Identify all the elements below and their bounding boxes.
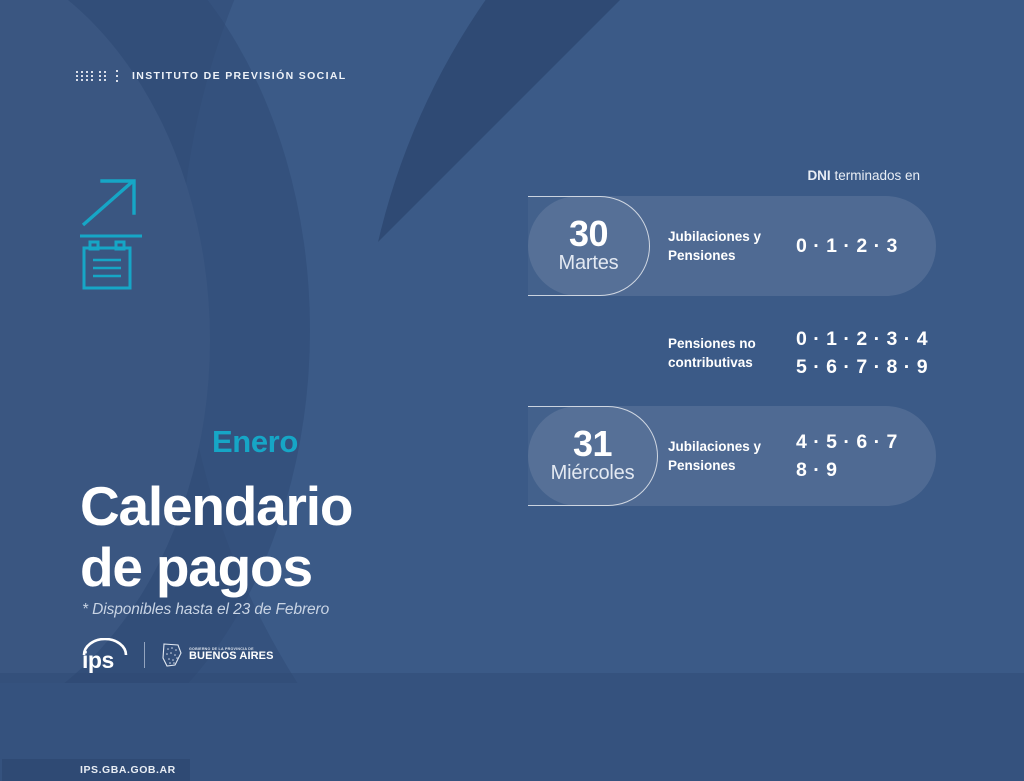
page-subtitle: * Disponibles hasta el 23 de Febrero [82,601,329,619]
topbar-title: INSTITUTO DE PREVISIÓN SOCIAL [132,70,347,82]
dni-header: DNI terminados en [807,168,920,183]
month-label: Enero [212,424,298,460]
dni-header-bold: DNI [807,168,830,183]
benefit-label: Jubilaciones y Pensiones [668,437,798,475]
dot-grid-icon [76,70,122,82]
page-title: Calendario de pagos [80,476,352,598]
benefit-label: Pensiones no contributivas [668,334,798,372]
page-title-line2: de pagos [80,537,352,598]
day-number: 30 [569,217,608,251]
dni-digits: 0 · 1 · 2 · 3 · 4 5 · 6 · 7 · 8 · 9 [796,325,928,381]
payment-row[interactable]: 30 Martes Jubilaciones y Pensiones 0 · 1… [528,196,938,296]
background-bottom-band [0,673,1024,683]
province-map-icon [161,642,183,668]
ips-logo-text: ips [82,647,114,674]
dni-digits: 0 · 1 · 2 · 3 [796,232,898,260]
page-title-line1: Calendario [80,476,352,537]
day-name: Martes [559,251,619,275]
dni-digits: 4 · 5 · 6 · 7 8 · 9 [796,428,898,484]
day-capsule: 30 Martes [528,196,650,296]
left-panel: Enero Calendario de pagos * Disponibles … [80,176,480,286]
day-capsule: 31 Miércoles [528,406,658,506]
payment-row[interactable]: Pensiones no contributivas 0 · 1 · 2 · 3… [528,318,938,388]
calendar-icon [80,233,142,291]
url-badge[interactable]: IPS.GBA.GOB.AR [2,759,190,781]
month-icon-stack [80,176,200,286]
payment-row[interactable]: 31 Miércoles Jubilaciones y Pensiones 4 … [528,406,938,506]
day-number: 31 [573,427,612,461]
dni-header-rest: terminados en [831,168,920,183]
arrow-up-right-icon [80,176,142,228]
benefit-label: Jubilaciones y Pensiones [668,227,798,265]
gov-logo-big-text: BUENOS AIRES [189,651,274,662]
logo-divider [144,642,145,668]
topbar: INSTITUTO DE PREVISIÓN SOCIAL [76,70,347,82]
day-name: Miércoles [551,461,635,485]
logo-row: ips GOBIERNO DE LA PROVINCIA DE BUENOS A… [82,638,274,672]
buenos-aires-logo: GOBIERNO DE LA PROVINCIA DE BUENOS AIRES [161,642,274,668]
ips-logo: ips [82,638,128,672]
